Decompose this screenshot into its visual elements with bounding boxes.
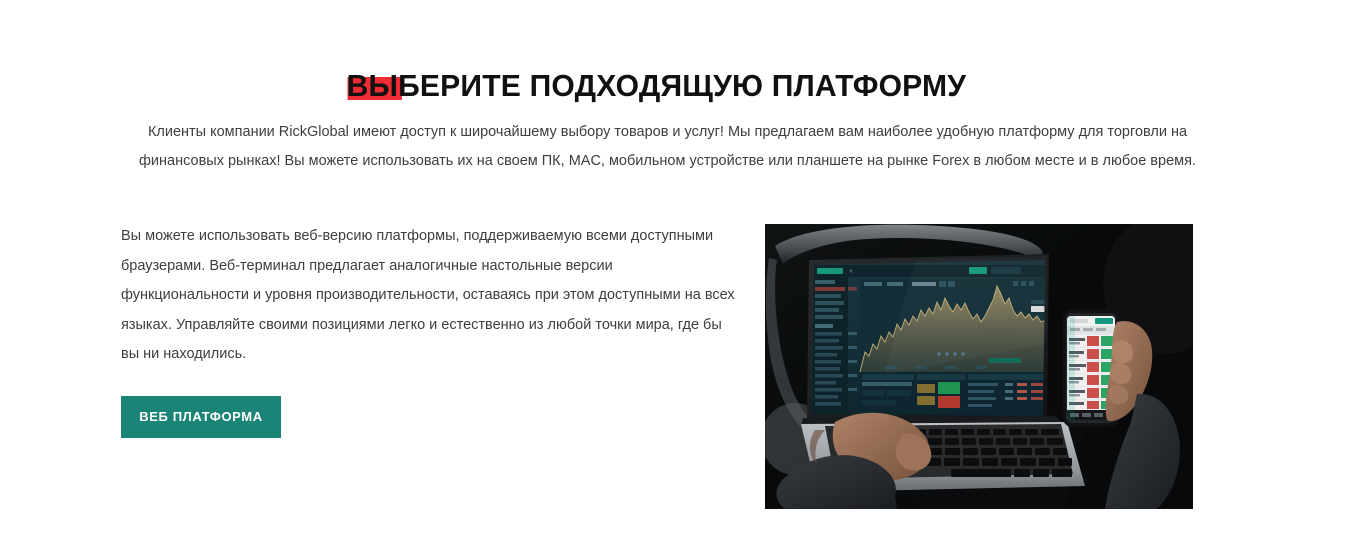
left-column: Вы можете использовать веб-версию платфо… xyxy=(121,210,741,438)
left-column-body: Вы можете использовать веб-версию платфо… xyxy=(121,210,741,370)
platform-photo-illustration xyxy=(765,224,1193,509)
page-title-wrapper: ВЫБЕРИТЕ ПОДХОДЯЩУЮ ПЛАТФОРМУ xyxy=(0,46,1313,126)
web-platform-button[interactable]: ВЕБ ПЛАТФОРМА xyxy=(121,396,281,438)
page-title: ВЫБЕРИТЕ ПОДХОДЯЩУЮ ПЛАТФОРМУ xyxy=(347,67,967,105)
intro-paragraph: Клиенты компании RickGlobal имеют доступ… xyxy=(121,118,1214,176)
page-title-text: ВЫБЕРИТЕ ПОДХОДЯЩУЮ ПЛАТФОРМУ xyxy=(347,68,967,103)
content-columns: Вы можете использовать веб-версию платфо… xyxy=(0,210,1361,530)
platform-section: ВЫБЕРИТЕ ПОДХОДЯЩУЮ ПЛАТФОРМУ Клиенты ко… xyxy=(0,0,1361,546)
platform-photo xyxy=(765,224,1193,509)
